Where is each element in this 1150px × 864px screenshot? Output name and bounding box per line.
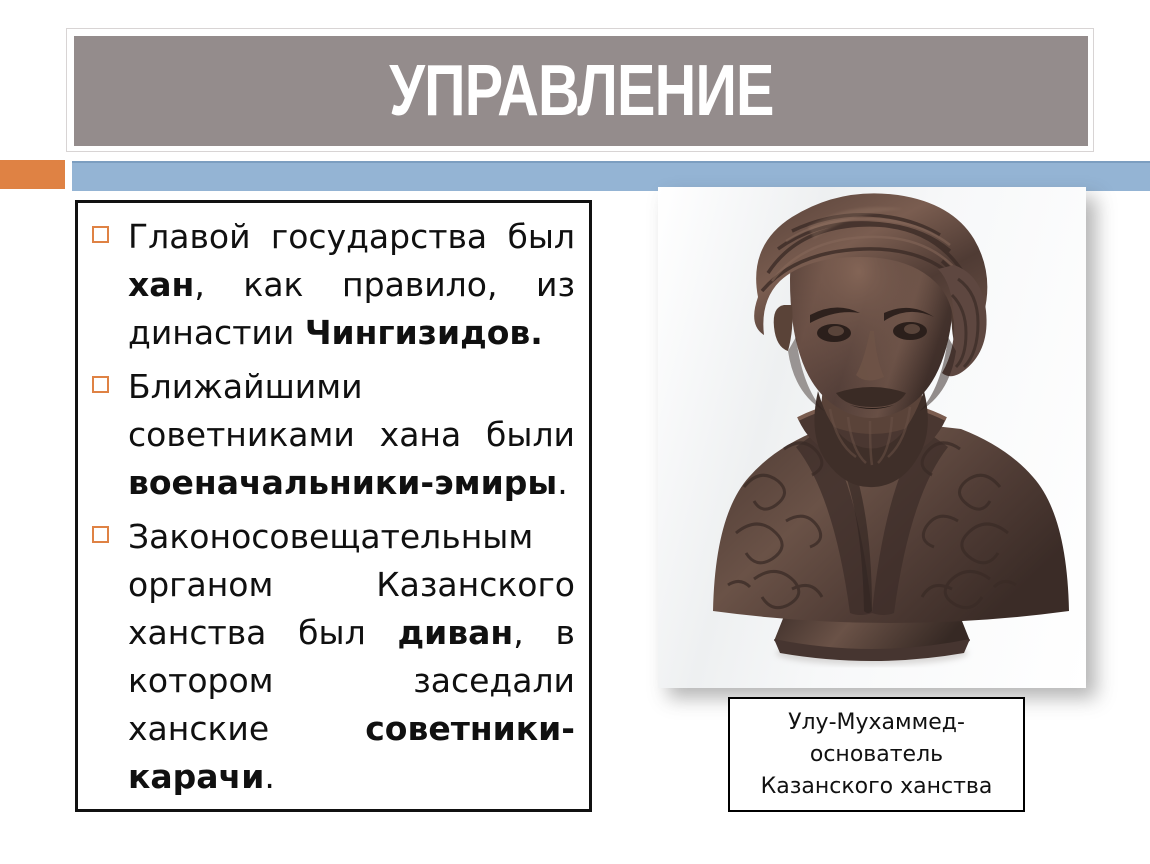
photo-backdrop <box>658 187 1086 688</box>
square-bullet-icon <box>92 226 109 243</box>
title-band: УПРАВЛЕНИЕ <box>74 36 1088 146</box>
content-text-box: Главой государства был хан, как правило,… <box>75 200 592 812</box>
square-bullet-icon <box>92 376 109 393</box>
list-item: Ближайшими советниками хана были военача… <box>92 363 575 507</box>
accent-bar-orange <box>0 160 65 189</box>
image-caption-text: Улу-Мухаммед- основатель Казанского ханс… <box>753 707 1001 803</box>
list-item: Законосовещательным органом Казанского х… <box>92 513 575 801</box>
bullet-1-text: Главой государства был хан, как правило,… <box>128 213 575 357</box>
caption-line-2: основатель <box>810 742 943 767</box>
bullet-2-text: Ближайшими советниками хана были военача… <box>128 363 575 507</box>
bust-photo <box>658 187 1086 688</box>
list-item: Главой государства был хан, как правило,… <box>92 213 575 357</box>
caption-line-3: Казанского ханства <box>761 774 993 799</box>
square-bullet-icon <box>92 526 109 543</box>
page-title: УПРАВЛЕНИЕ <box>389 55 774 127</box>
image-caption-box: Улу-Мухаммед- основатель Казанского ханс… <box>728 697 1025 812</box>
bullet-3-text: Законосовещательным органом Казанского х… <box>128 513 575 801</box>
bronze-bust-icon <box>658 187 1086 688</box>
caption-line-1: Улу-Мухаммед- <box>788 710 965 735</box>
